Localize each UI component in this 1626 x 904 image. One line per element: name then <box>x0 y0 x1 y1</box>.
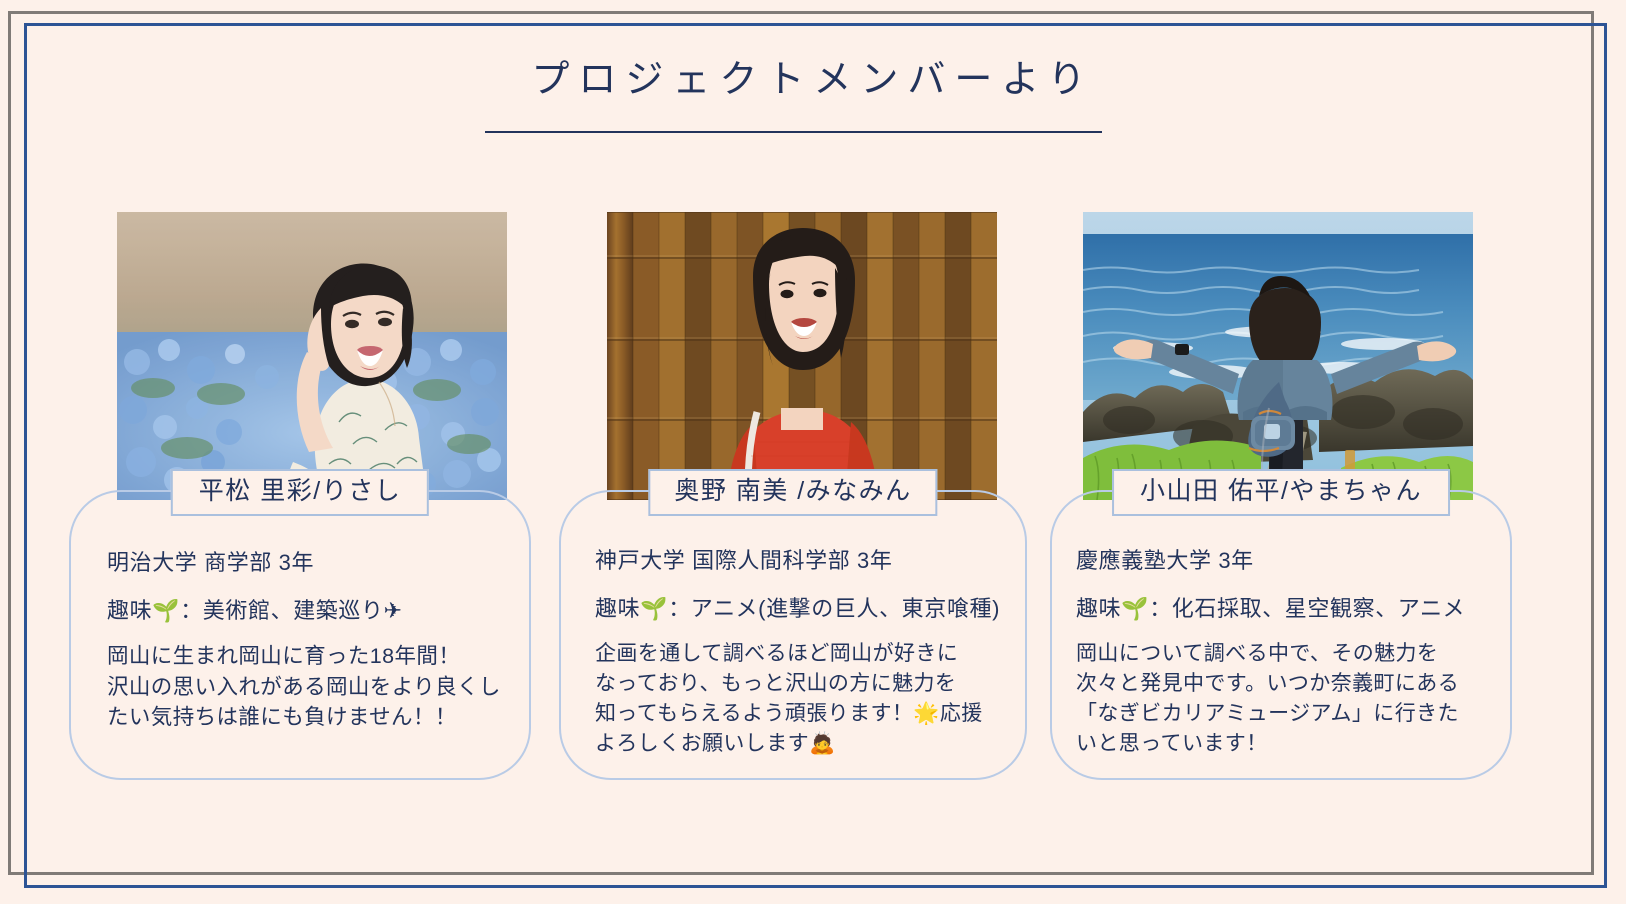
slide-canvas: プロジェクトメンバーより <box>0 0 1626 904</box>
member-card: 平松 里彩/りさし 明治大学 商学部 3年 趣味🌱：美術館、建築巡り✈ 岡山に生… <box>69 212 539 780</box>
member-name-plate: 小山田 佑平/やまちゃん <box>1112 469 1450 516</box>
member-name-plate: 奥野 南美 /みなみん <box>648 469 937 516</box>
photo-illustration-flowers <box>117 212 507 500</box>
member-bio-body: 明治大学 商学部 3年 趣味🌱：美術館、建築巡り✈ 岡山に生まれ岡山に育った18… <box>107 548 519 733</box>
photo-illustration-seaside <box>1083 212 1473 500</box>
member-school: 明治大学 商学部 3年 <box>107 548 519 578</box>
member-bio-card: 小山田 佑平/やまちゃん 慶應義塾大学 3年 趣味🌱：化石採取、星空観察、アニメ… <box>1050 490 1512 780</box>
member-message: 企画を通して調べるほど岡山が好きに なっており、もっと沢山の方に魅力を 知っても… <box>595 639 1015 758</box>
member-hobby: 趣味🌱：化石採取、星空観察、アニメ <box>1076 594 1500 624</box>
member-bio-card: 奥野 南美 /みなみん 神戸大学 国際人間科学部 3年 趣味🌱：アニメ(進撃の巨… <box>559 490 1027 780</box>
member-bio-body: 慶應義塾大学 3年 趣味🌱：化石採取、星空観察、アニメ 岡山について調べる中で、… <box>1076 546 1500 759</box>
photo-illustration-bamboo <box>607 212 997 500</box>
member-message: 岡山に生まれ岡山に育った18年間！ 沢山の思い入れがある岡山をより良くし たい気… <box>107 641 519 733</box>
members-row: 平松 里彩/りさし 明治大学 商学部 3年 趣味🌱：美術館、建築巡り✈ 岡山に生… <box>0 0 1626 904</box>
member-bio-body: 神戸大学 国際人間科学部 3年 趣味🌱：アニメ(進撃の巨人、東京喰種) 企画を通… <box>595 546 1015 759</box>
member-card: 奥野 南美 /みなみん 神戸大学 国際人間科学部 3年 趣味🌱：アニメ(進撃の巨… <box>559 212 1029 780</box>
member-message: 岡山について調べる中で、その魅力を 次々と発見中です。いつか奈義町にある 「なぎ… <box>1076 639 1500 758</box>
member-name-plate: 平松 里彩/りさし <box>171 469 429 516</box>
member-photo-okuno <box>607 212 997 500</box>
member-bio-card: 平松 里彩/りさし 明治大学 商学部 3年 趣味🌱：美術館、建築巡り✈ 岡山に生… <box>69 490 531 780</box>
member-school: 神戸大学 国際人間科学部 3年 <box>595 546 1015 576</box>
member-photo-oyamada <box>1083 212 1473 500</box>
member-photo-hiramatsu <box>117 212 507 500</box>
member-hobby: 趣味🌱：美術館、建築巡り✈ <box>107 596 519 626</box>
member-hobby: 趣味🌱：アニメ(進撃の巨人、東京喰種) <box>595 594 1015 624</box>
member-card: 小山田 佑平/やまちゃん 慶應義塾大学 3年 趣味🌱：化石採取、星空観察、アニメ… <box>1050 212 1520 780</box>
member-school: 慶應義塾大学 3年 <box>1076 546 1500 576</box>
